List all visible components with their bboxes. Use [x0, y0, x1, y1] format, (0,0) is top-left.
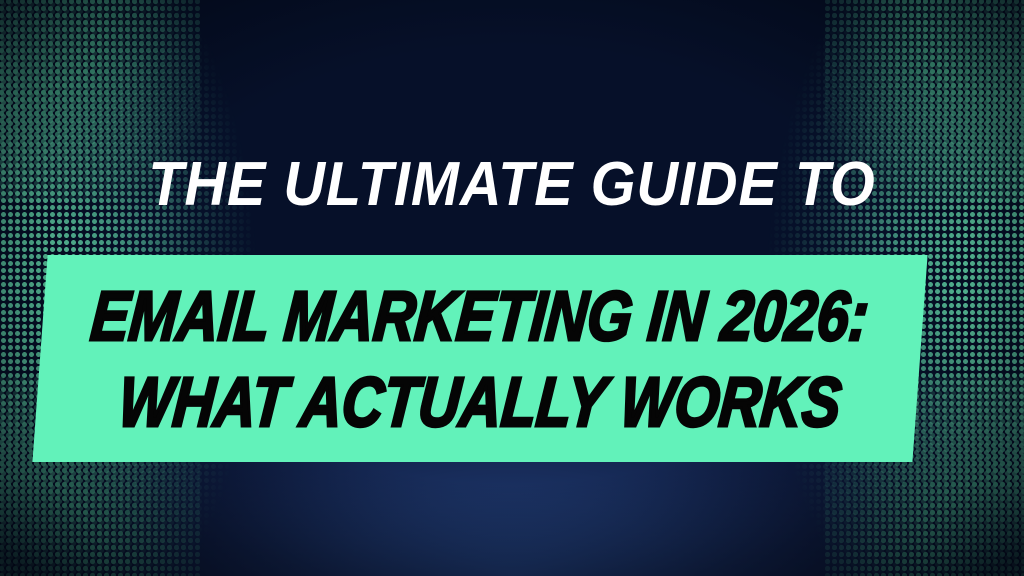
headline-line-1: EMAIL MARKETING IN 2026: — [88, 274, 872, 358]
headline-line-2: WHAT ACTUALLY WORKS — [116, 360, 845, 444]
poster-content: THE ULTIMATE GUIDE TO EMAIL MARKETING IN… — [0, 0, 1024, 576]
headline-group: EMAIL MARKETING IN 2026: WHAT ACTUALLY W… — [40, 255, 920, 462]
kicker-text: THE ULTIMATE GUIDE TO — [36, 152, 988, 218]
poster-canvas: THE ULTIMATE GUIDE TO EMAIL MARKETING IN… — [0, 0, 1024, 576]
